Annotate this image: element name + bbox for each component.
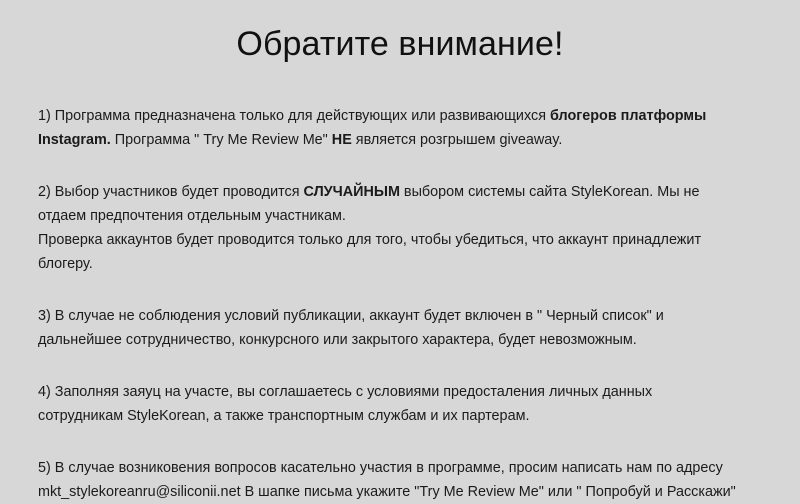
- paragraph-5: 5) В случае возниковения вопросов касате…: [38, 456, 738, 504]
- page-title: Обратите внимание!: [0, 22, 800, 66]
- paragraph-4-run-1: 4) Заполняя заяуц на участе, вы соглашае…: [38, 384, 652, 424]
- paragraph-1-run-3: Программа " Try Me Review Me": [111, 132, 332, 148]
- paragraph-5-run-1: 5) В случае возниковения вопросов касате…: [38, 460, 736, 500]
- notice-body: 1) Программа предназначена только для де…: [38, 104, 738, 504]
- paragraph-4: 4) Заполняя заяуц на участе, вы соглашае…: [38, 380, 738, 428]
- paragraph-2-run-1: 2) Выбор участников будет проводится: [38, 184, 304, 200]
- paragraph-1-run-4-bold: НЕ: [332, 132, 352, 148]
- notice-page: Обратите внимание! 1) Программа предназн…: [0, 0, 800, 466]
- paragraph-2-run-2-bold: СЛУЧАЙНЫМ: [304, 184, 400, 200]
- paragraph-2-extra-line: Проверка аккаунтов будет проводится толь…: [38, 228, 738, 276]
- paragraph-1-run-1: 1) Программа предназначена только для де…: [38, 108, 550, 124]
- paragraph-3: 3) В случае не соблюдения условий публик…: [38, 304, 738, 352]
- paragraph-3-run-1: 3) В случае не соблюдения условий публик…: [38, 308, 664, 348]
- paragraph-1-run-5: является розгрышем giveaway.: [352, 132, 563, 148]
- paragraph-2: 2) Выбор участников будет проводится СЛУ…: [38, 180, 738, 276]
- paragraph-1: 1) Программа предназначена только для де…: [38, 104, 738, 152]
